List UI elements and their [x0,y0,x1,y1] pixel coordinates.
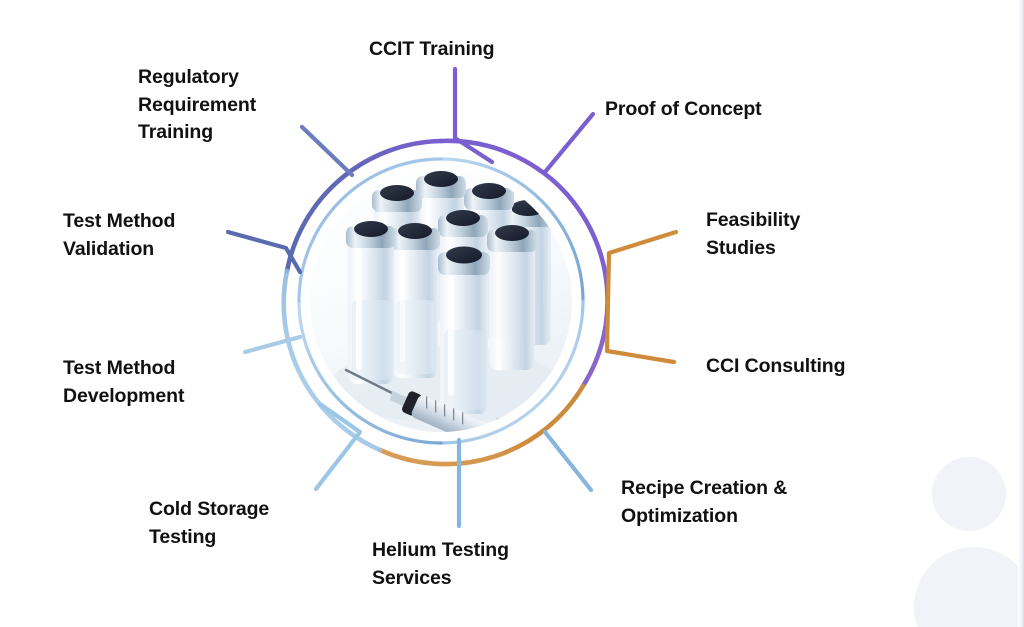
label-helium-testing-services: Helium Testing Services [372,537,602,592]
connector-cold-storage-testing [316,404,360,489]
label-regulatory-requirement-training: Regulatory Requirement Training [138,64,348,147]
label-feasibility-studies: Feasibility Studies [706,207,906,262]
label-cci-consulting: CCI Consulting [706,353,936,381]
connector-proof-of-concept [545,114,593,172]
diagram-canvas: Regulatory Requirement Training CCIT Tra… [0,0,1024,627]
label-proof-of-concept: Proof of Concept [605,96,865,124]
label-test-method-development: Test Method Development [63,355,293,410]
connector-recipe-creation-optimization [545,432,591,490]
label-cold-storage-testing: Cold Storage Testing [149,496,369,551]
connector-cci-consulting [607,351,674,362]
label-test-method-validation: Test Method Validation [63,208,283,263]
connector-feasibility-studies [607,232,676,351]
label-ccit-training: CCIT Training [369,36,589,64]
label-recipe-creation-optimization: Recipe Creation & Optimization [621,475,901,530]
page-edge [1018,0,1024,627]
connector-ccit-training [455,69,492,162]
